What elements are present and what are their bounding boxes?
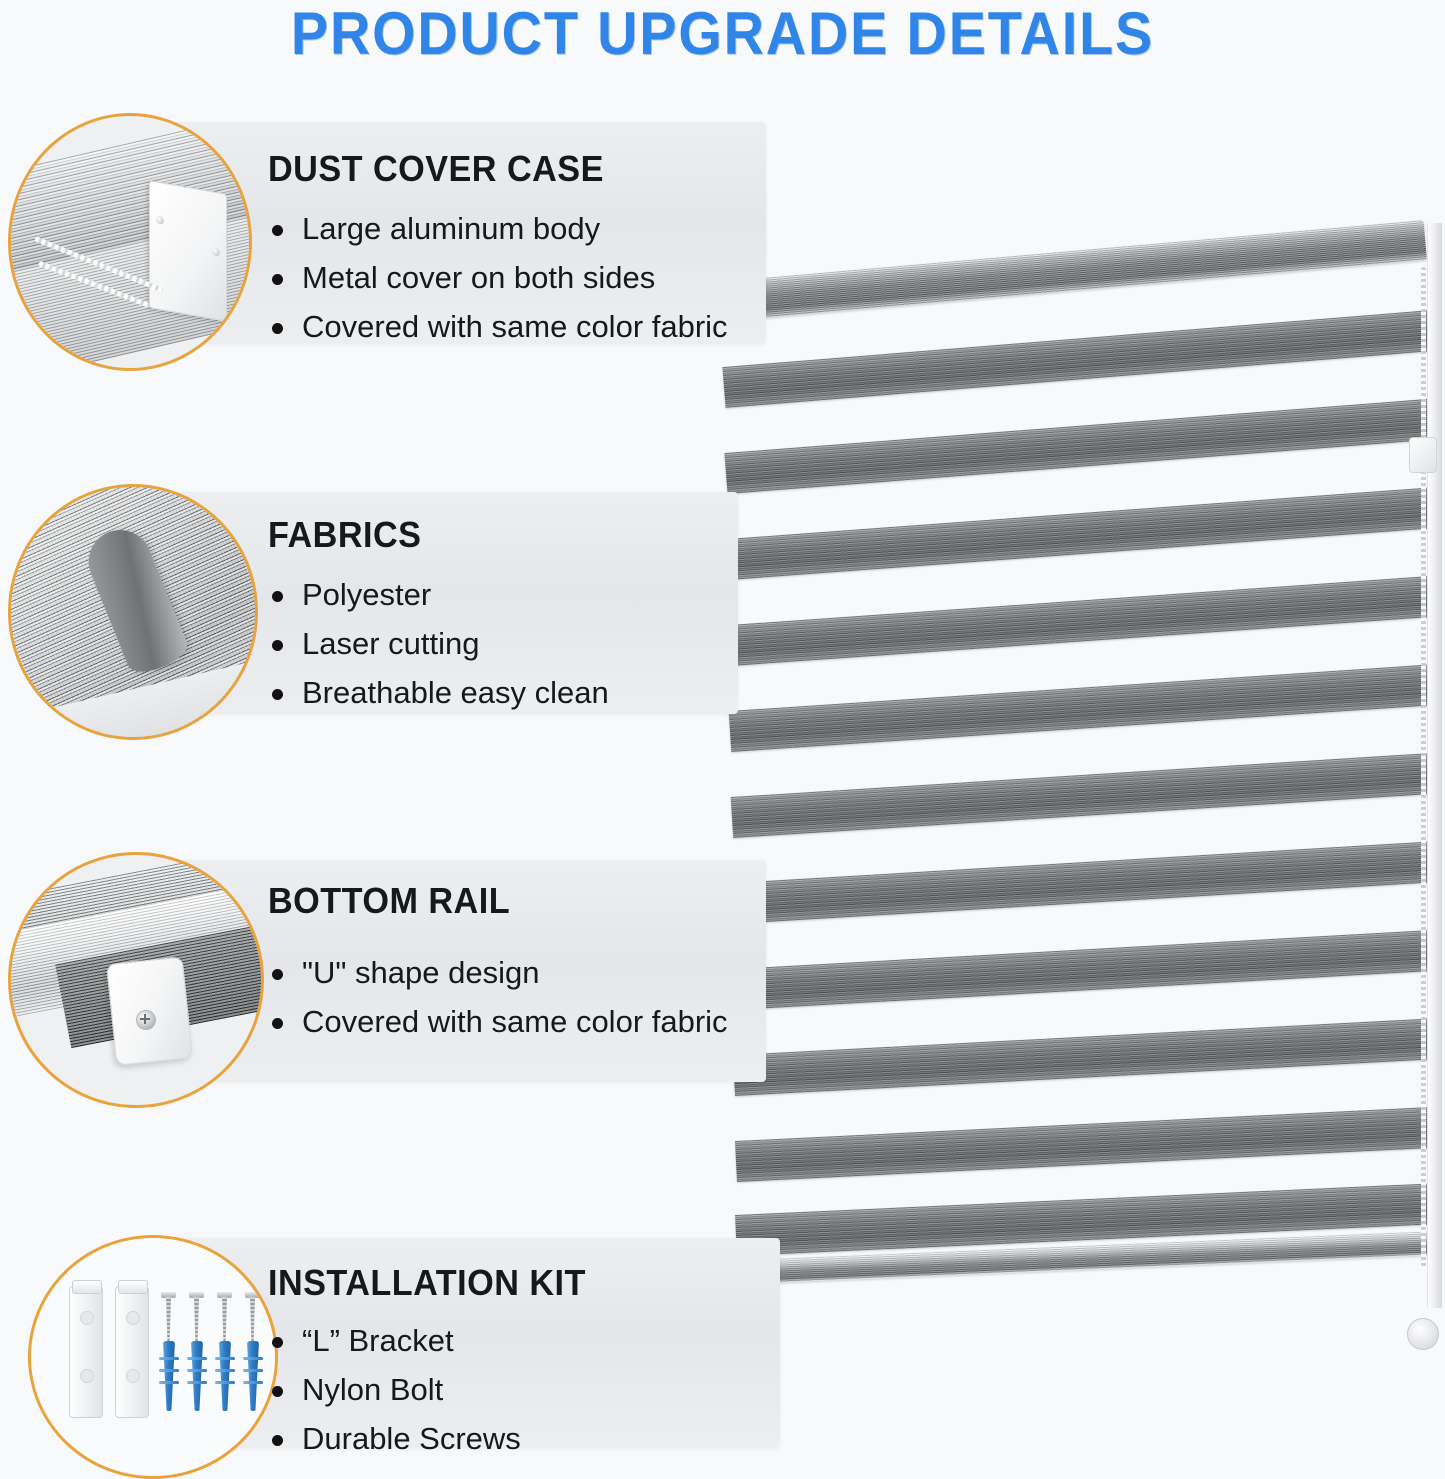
heading-bottom-rail: BOTTOM RAIL (268, 880, 705, 922)
anchor-body-icon (163, 1341, 175, 1411)
list-item: Durable Screws (268, 1414, 603, 1463)
anchor-body-icon (191, 1341, 203, 1411)
anchor-fin-icon (243, 1357, 263, 1360)
blind-fabric-band (733, 930, 1432, 1010)
heading-fabrics: FABRICS (268, 514, 592, 556)
anchor-body-icon (219, 1341, 231, 1411)
list-item: Covered with same color fabric (268, 997, 728, 1046)
heading-installation-kit: INSTALLATION KIT (268, 1262, 586, 1304)
bullet-list-installation-kit: “L” Bracket Nylon Bolt Durable Screws (268, 1316, 603, 1463)
blind-fabric-band (731, 753, 1432, 838)
bullet-list-dust-cover-case: Large aluminum body Metal cover on both … (268, 204, 728, 351)
page-title: PRODUCT UPGRADE DETAILS (51, 2, 1395, 70)
anchor-fin-icon (215, 1381, 235, 1384)
l-bracket-icon (69, 1286, 103, 1418)
list-item: "U" shape design (268, 948, 728, 997)
product-image-zebra-blind (700, 215, 1445, 1325)
heading-dust-cover-case: DUST COVER CASE (268, 148, 705, 190)
list-item: Breathable easy clean (268, 668, 609, 717)
bead-chain-cord[interactable] (1421, 267, 1426, 1267)
list-item: “L” Bracket (268, 1316, 603, 1365)
photo-dust-cover-case (8, 113, 252, 371)
photo-fabrics (8, 484, 258, 740)
blind-fabric-band (731, 842, 1432, 924)
list-item: Nylon Bolt (268, 1365, 603, 1414)
bracket-tab-icon (118, 1280, 148, 1294)
anchor-fin-icon (187, 1381, 207, 1384)
white-end-cap-icon (149, 180, 227, 322)
blind-fabric-band (735, 1107, 1432, 1182)
anchor-fin-icon (243, 1369, 263, 1372)
blind-fabric-band (722, 310, 1431, 408)
list-item: Laser cutting (268, 619, 609, 668)
photo-bottom-rail (8, 852, 264, 1108)
l-bracket-icon (115, 1286, 149, 1418)
anchor-fin-icon (159, 1369, 179, 1372)
bracket-tab-icon (72, 1280, 102, 1294)
blind-fabric-band (729, 576, 1432, 666)
anchor-fin-icon (159, 1357, 179, 1360)
blind-fabric-band (726, 487, 1431, 579)
wall-anchor-icon (187, 1341, 207, 1411)
screw-dot-icon (212, 247, 220, 256)
blind-headrail (704, 220, 1427, 323)
anchor-fin-icon (215, 1369, 235, 1372)
blind-fabric-band (733, 1018, 1432, 1095)
blind-fabric-band (724, 399, 1431, 494)
bracket-hole-icon (126, 1369, 140, 1383)
bullet-list-bottom-rail: "U" shape design Covered with same color… (268, 948, 728, 1046)
list-item: Covered with same color fabric (268, 302, 728, 351)
list-item: Polyester (268, 570, 609, 619)
wall-anchor-icon (215, 1341, 235, 1411)
list-item: Metal cover on both sides (268, 253, 728, 302)
phillips-screw-icon (136, 1010, 156, 1030)
wall-anchor-icon (243, 1341, 263, 1411)
anchor-fin-icon (187, 1369, 207, 1372)
bracket-hole-icon (80, 1369, 94, 1383)
screw-dot-icon (156, 215, 164, 224)
bullet-list-fabrics: Polyester Laser cutting Breathable easy … (268, 570, 609, 717)
anchor-fin-icon (243, 1381, 263, 1384)
photo-installation-kit (28, 1235, 278, 1479)
wall-anchor-icon (159, 1341, 179, 1411)
blind-fabric-band (729, 665, 1432, 752)
blind-right-edge (1427, 223, 1442, 1308)
bracket-hole-icon (126, 1311, 140, 1325)
anchor-fin-icon (159, 1381, 179, 1384)
anchor-body-icon (247, 1341, 259, 1411)
bracket-hole-icon (80, 1311, 94, 1325)
list-item: Large aluminum body (268, 204, 728, 253)
anchor-fin-icon (215, 1357, 235, 1360)
anchor-fin-icon (187, 1357, 207, 1360)
headrail-end-cap-icon (1409, 437, 1437, 473)
cord-tensioner-icon (1407, 1318, 1439, 1350)
